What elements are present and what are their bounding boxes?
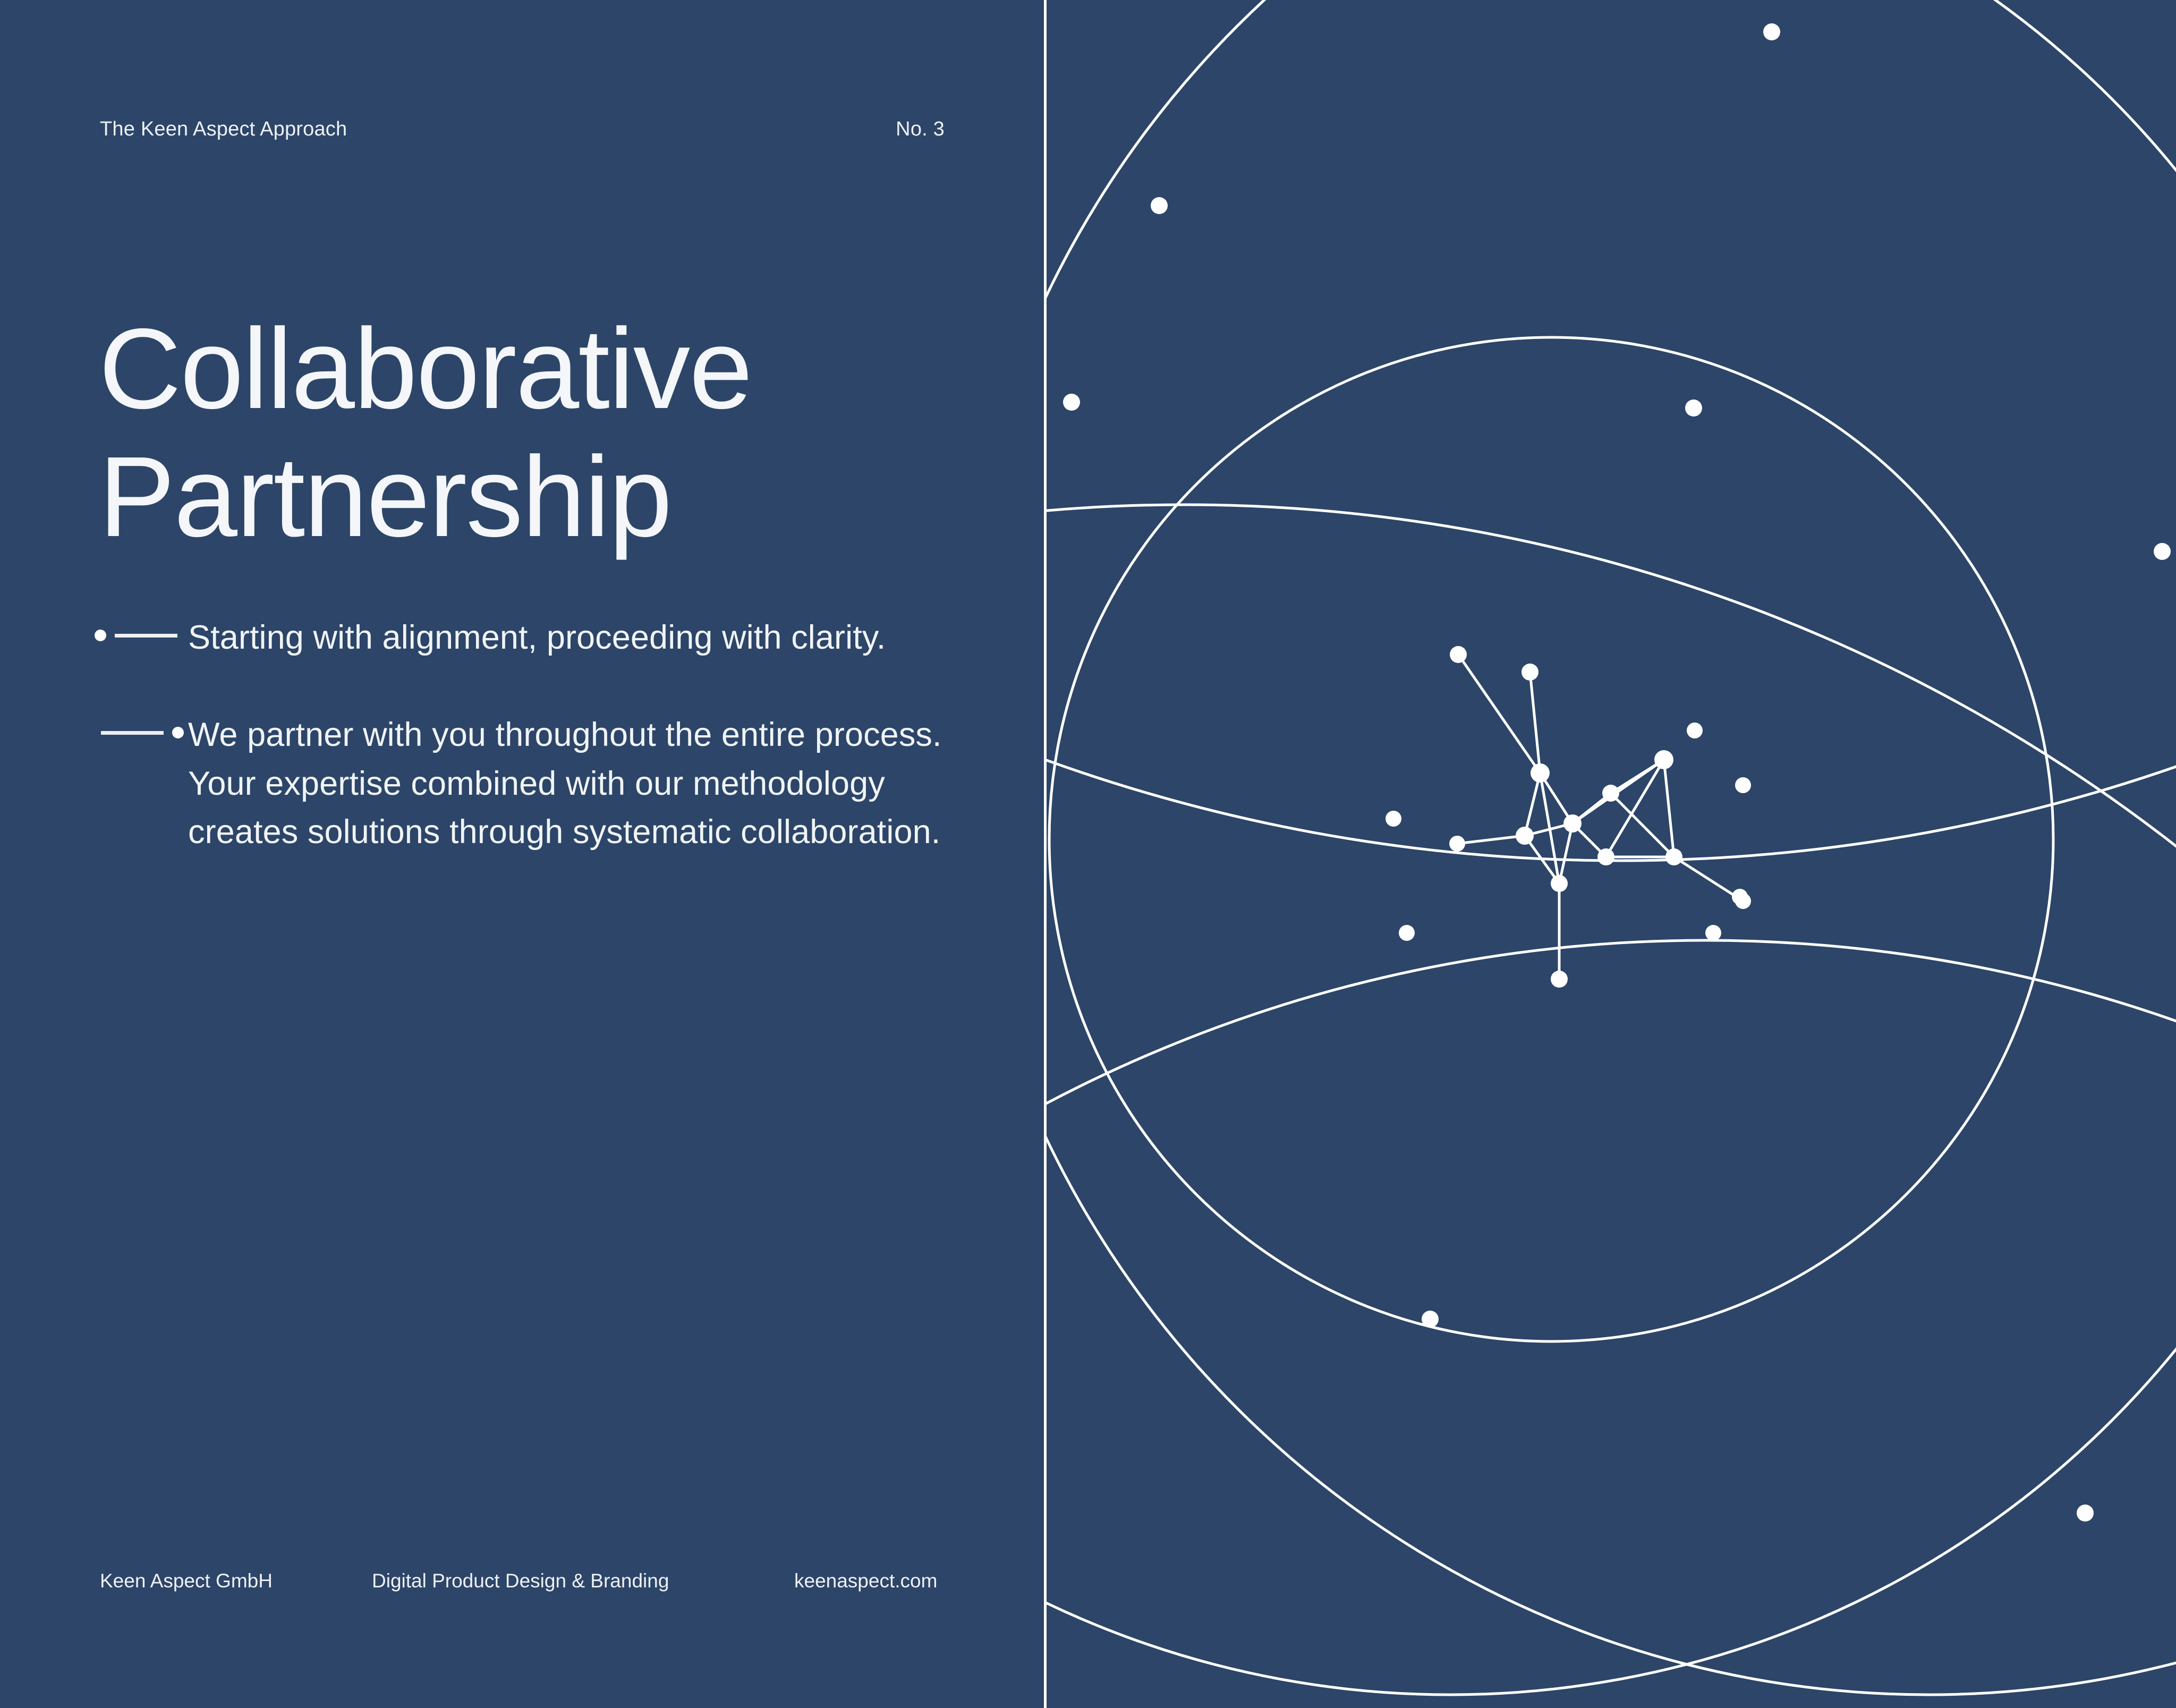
scatter-dot [1399,925,1415,941]
scatter-dot [2154,543,2171,560]
slide-canvas: The Keen Aspect Approach No. 3 Collabora… [0,0,2176,1708]
network-edge [1457,836,1525,844]
scatter-dot [1422,1311,1439,1328]
network-edge [1606,760,1664,857]
header-eyebrow: The Keen Aspect Approach [100,118,347,141]
footer-service: Digital Product Design & Branding [372,1570,794,1592]
network-edge [1525,773,1540,836]
header-page-number: No. 3 [896,118,945,141]
network-node [1563,814,1582,832]
network-edges [1457,655,1743,979]
network-node [1531,763,1550,783]
arc-bottom-wide-arc [1047,940,2176,1708]
marker-dot-icon [172,727,184,738]
network-node [1602,785,1619,802]
scatter-dot [1385,811,1401,827]
network-node [1521,664,1538,681]
network-edge [1530,672,1540,773]
marker-line-icon [115,634,177,638]
scatter-dot [1705,925,1721,941]
bullet-list: Starting with alignment, proceeding with… [95,614,955,905]
page-title-line-2: Partnership [99,432,671,560]
footer-company: Keen Aspect GmbH [100,1570,372,1592]
network-node [1597,848,1614,865]
network-node [1665,848,1682,865]
footer-website[interactable]: keenaspect.com [794,1570,937,1592]
scatter-dot [1735,777,1751,793]
right-graphic-panel [1047,0,2176,1708]
network-edge [1611,793,1674,857]
page-title: Collaborative Partnership [99,305,949,561]
scatter-dot [1687,723,1703,738]
list-item-text: We partner with you throughout the entir… [184,711,955,856]
page-title-line-1: Collaborative [99,304,752,432]
network-node [1551,875,1568,892]
network-edge [1559,823,1572,883]
slide-footer: Keen Aspect GmbH Digital Product Design … [100,1570,937,1592]
network-node [1449,836,1465,852]
scatter-dot [1151,197,1168,214]
left-content-panel: The Keen Aspect Approach No. 3 Collabora… [0,0,1045,1708]
orbital-network-diagram [1047,0,2176,1708]
list-item-text: Starting with alignment, proceeding with… [184,614,955,662]
scatter-dot [1063,394,1080,411]
marker-dot-icon [95,630,106,641]
network-node [1654,750,1673,769]
scatter-dot [1763,23,1780,40]
network-node [1516,827,1534,845]
slide-header: The Keen Aspect Approach No. 3 [100,118,945,141]
marker-line-icon [101,731,164,735]
arc-lower-left-arc [1047,505,2176,1708]
scatter-dots [1063,23,2171,1522]
network-node [1450,646,1467,663]
network-edge [1664,760,1674,857]
network-nodes [1449,646,1751,988]
scatter-dot [1732,889,1748,905]
dot-line-marker-icon [95,614,184,656]
scatter-dot [1685,400,1702,417]
network-node [1551,971,1568,988]
scatter-dot [2077,1505,2094,1522]
line-dot-marker-icon [95,711,184,753]
list-item: We partner with you throughout the entir… [95,711,955,856]
list-item: Starting with alignment, proceeding with… [95,614,955,662]
